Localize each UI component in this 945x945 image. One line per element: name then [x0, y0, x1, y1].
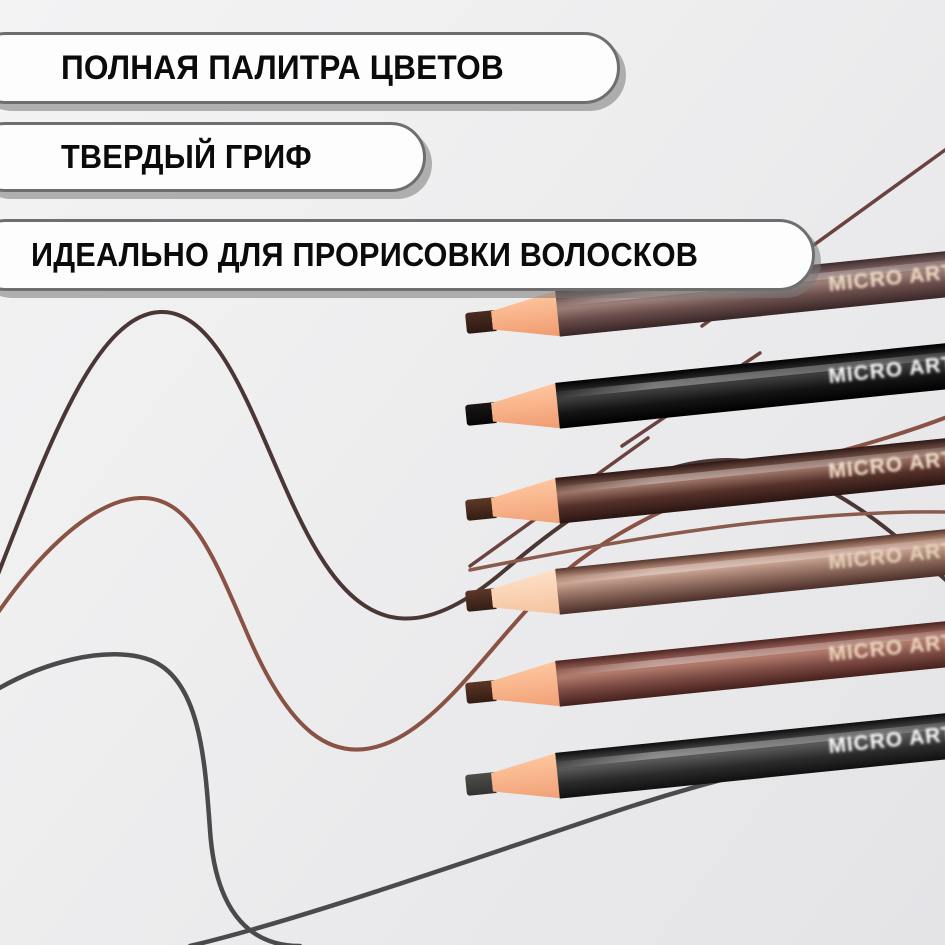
- pencil-6-barrel: MICRO ART CO: [555, 708, 945, 799]
- pencil-3-wood: [490, 478, 562, 531]
- pencil-5-wood: [490, 661, 562, 714]
- product-banner: ПОЛНАЯ ПАЛИТРА ЦВЕТОВ ТВЕРДЫЙ ГРИФ ИДЕАЛ…: [0, 0, 945, 945]
- feature-badge-hardness-label: ТВЕРДЫЙ ГРИФ: [61, 138, 312, 176]
- pencil-4: MICRO ART CO: [464, 524, 945, 624]
- feature-badge-hairstrokes-label: ИДЕАЛЬНО ДЛЯ ПРОРИСОВКИ ВОЛОСКОВ: [31, 236, 698, 274]
- pencil-6: MICRO ART CO: [464, 708, 945, 808]
- pencil-3: MICRO ART CO: [464, 433, 945, 533]
- pencil-5-imprint: MICRO ART CO: [827, 627, 945, 666]
- pencil-3-barrel: MICRO ART CO: [555, 433, 945, 524]
- pencil-2-imprint: MICRO ART CO: [827, 349, 945, 388]
- feature-badge-palette: ПОЛНАЯ ПАЛИТРА ЦВЕТОВ: [0, 32, 620, 104]
- pencil-5: MICRO ART CO: [464, 616, 945, 716]
- feature-badge-hairstrokes: ИДЕАЛЬНО ДЛЯ ПРОРИСОВКИ ВОЛОСКОВ: [0, 219, 815, 291]
- curve-charcoal-lower: [0, 654, 300, 945]
- feature-badge-hardness: ТВЕРДЫЙ ГРИФ: [0, 122, 426, 192]
- pencil-4-imprint: MICRO ART CO: [827, 535, 945, 574]
- pencil-6-wood: [490, 753, 562, 806]
- pencil-4-barrel: MICRO ART CO: [555, 524, 945, 615]
- feature-badge-palette-label: ПОЛНАЯ ПАЛИТРА ЦВЕТОВ: [61, 49, 504, 88]
- pencil-2-wood: [490, 383, 562, 436]
- pencil-5-barrel: MICRO ART CO: [555, 616, 945, 707]
- pencil-1-imprint: MICRO ART CO: [827, 257, 945, 296]
- pencil-2-barrel: MICRO ART CO: [555, 338, 945, 429]
- pencil-6-imprint: MICRO ART CO: [827, 719, 945, 758]
- pencil-3-imprint: MICRO ART CO: [827, 444, 945, 483]
- pencil-4-wood: [490, 569, 562, 622]
- pencil-2: MICRO ART CO: [464, 338, 945, 438]
- pencil-1-wood: [490, 291, 562, 344]
